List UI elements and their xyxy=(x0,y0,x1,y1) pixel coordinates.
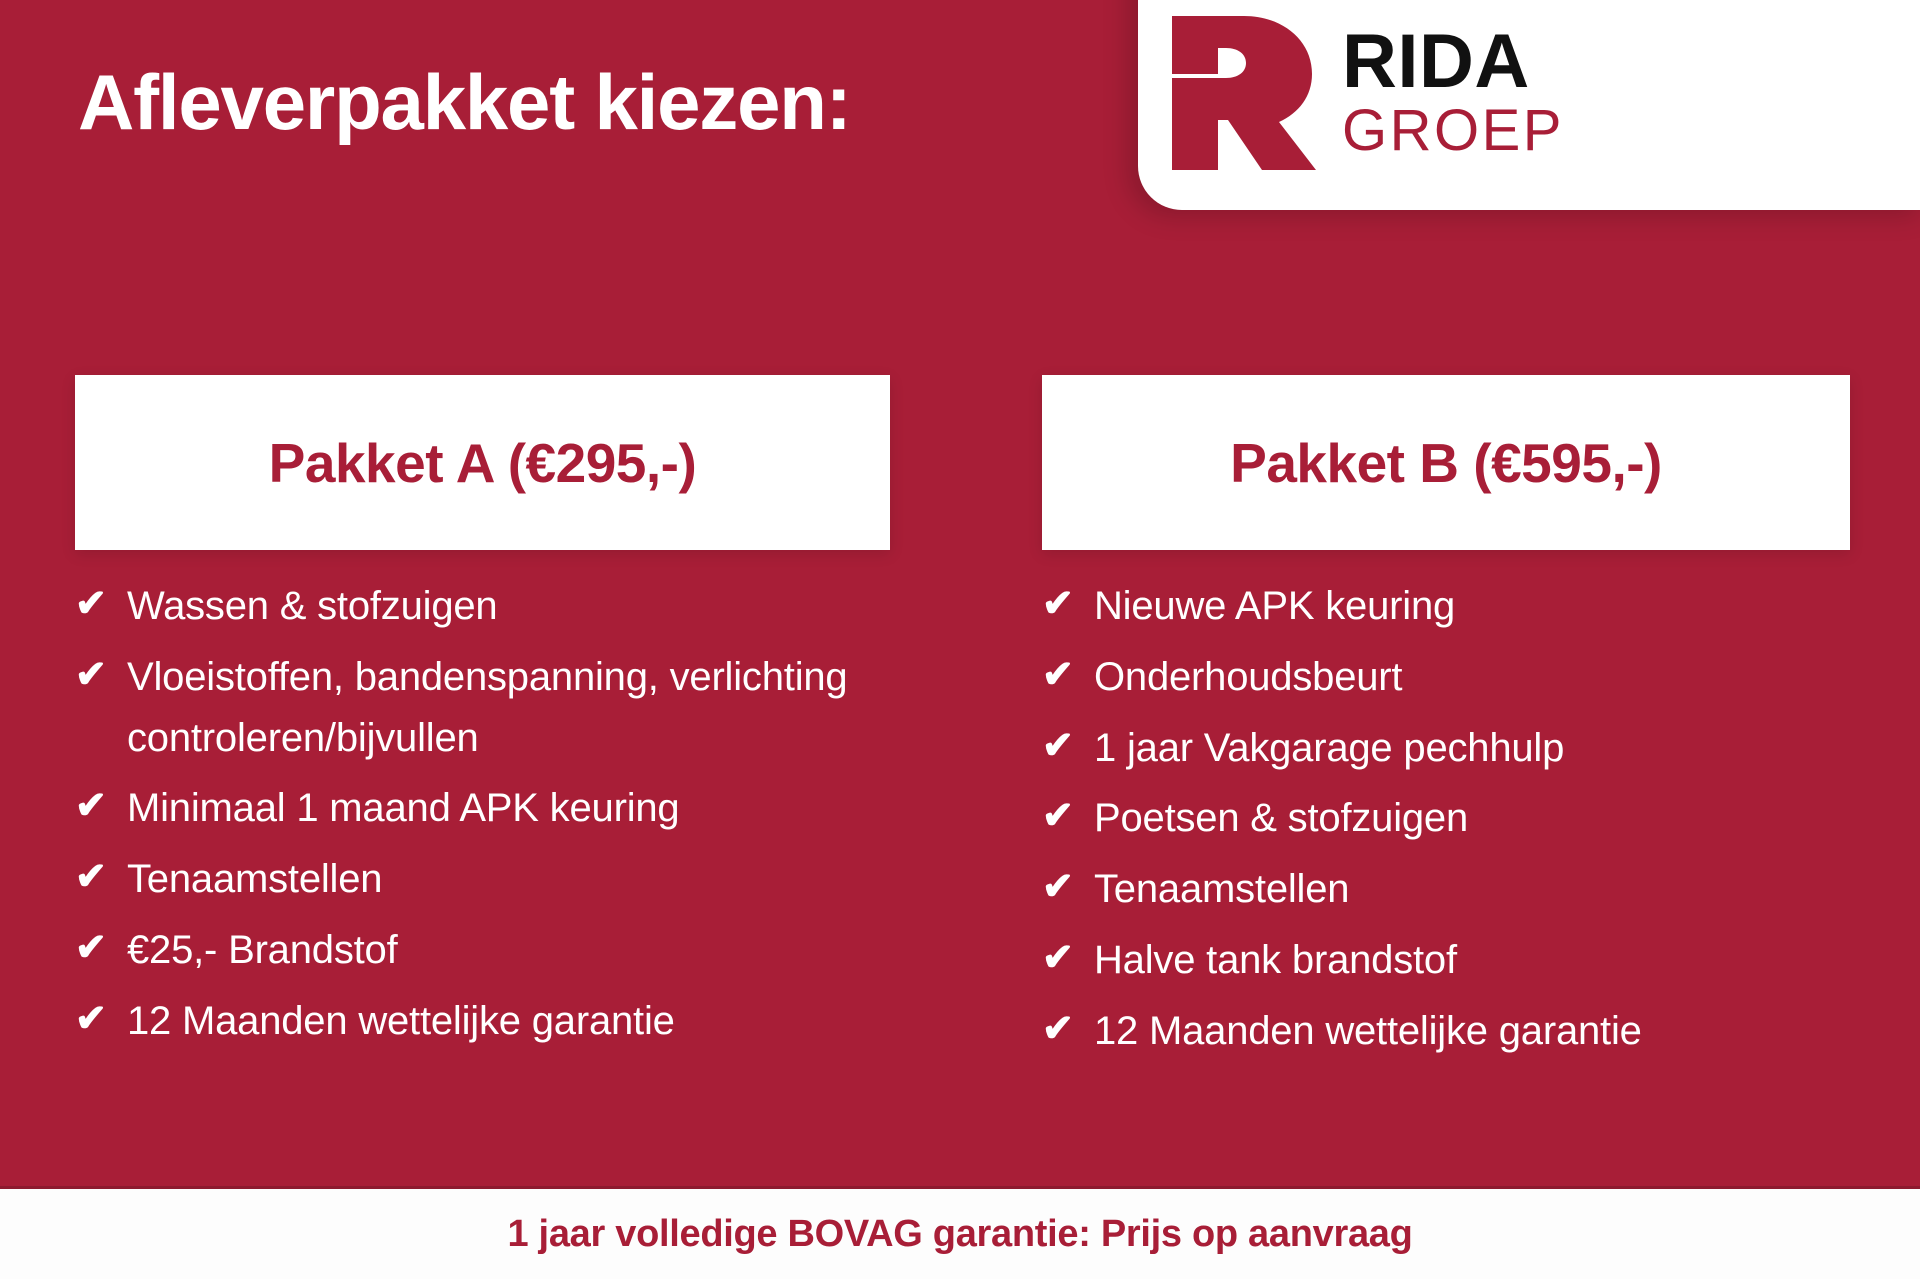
poster-header: Afleverpakket kiezen: RIDA GROEP xyxy=(0,0,1920,240)
check-icon: ✔ xyxy=(1042,930,1094,988)
check-icon: ✔ xyxy=(75,920,127,978)
feature-label: 1 jaar Vakgarage pechhulp xyxy=(1094,718,1850,779)
feature-label: Tenaamstellen xyxy=(1094,859,1850,920)
feature-label: Minimaal 1 maand APK keuring xyxy=(127,778,890,839)
footer-bar: 1 jaar volledige BOVAG garantie: Prijs o… xyxy=(0,1186,1920,1279)
package-b-feature-list: ✔ Nieuwe APK keuring ✔ Onderhoudsbeurt ✔… xyxy=(1042,550,1850,1062)
package-b-header: Pakket B (€595,-) xyxy=(1042,375,1850,550)
list-item: ✔ Tenaamstellen xyxy=(75,849,890,910)
list-item: ✔ Minimaal 1 maand APK keuring xyxy=(75,778,890,839)
list-item: ✔ Poetsen & stofzuigen xyxy=(1042,788,1850,849)
package-a-feature-list: ✔ Wassen & stofzuigen ✔ Vloeistoffen, ba… xyxy=(75,550,890,1052)
feature-label: Tenaamstellen xyxy=(127,849,890,910)
check-icon: ✔ xyxy=(1042,1001,1094,1059)
footer-guarantee-text: 1 jaar volledige BOVAG garantie: Prijs o… xyxy=(507,1213,1412,1256)
feature-label: 12 Maanden wettelijke garantie xyxy=(127,991,890,1052)
list-item: ✔ 12 Maanden wettelijke garantie xyxy=(1042,1001,1850,1062)
feature-label: Nieuwe APK keuring xyxy=(1094,576,1850,637)
list-item: ✔ €25,- Brandstof xyxy=(75,920,890,981)
check-icon: ✔ xyxy=(1042,718,1094,776)
feature-label: Onderhoudsbeurt xyxy=(1094,647,1850,708)
check-icon: ✔ xyxy=(1042,859,1094,917)
page-title: Afleverpakket kiezen: xyxy=(78,62,851,144)
check-icon: ✔ xyxy=(75,849,127,907)
list-item: ✔ Vloeistoffen, bandenspanning, verlicht… xyxy=(75,647,890,769)
rida-r-monogram-icon xyxy=(1166,14,1316,170)
feature-label: 12 Maanden wettelijke garantie xyxy=(1094,1001,1850,1062)
package-card-b[interactable]: Pakket B (€595,-) ✔ Nieuwe APK keuring ✔… xyxy=(1042,375,1850,1072)
list-item: ✔ Onderhoudsbeurt xyxy=(1042,647,1850,708)
logo-panel: RIDA GROEP xyxy=(1138,0,1920,210)
check-icon: ✔ xyxy=(75,991,127,1049)
logo-primary-text: RIDA xyxy=(1342,24,1564,100)
logo-lockup: RIDA GROEP xyxy=(1166,14,1564,170)
package-a-title: Pakket A (€295,-) xyxy=(269,431,697,495)
check-icon: ✔ xyxy=(1042,788,1094,846)
list-item: ✔ Tenaamstellen xyxy=(1042,859,1850,920)
package-b-title: Pakket B (€595,-) xyxy=(1230,431,1662,495)
package-card-a[interactable]: Pakket A (€295,-) ✔ Wassen & stofzuigen … xyxy=(75,375,890,1062)
check-icon: ✔ xyxy=(1042,576,1094,634)
feature-label: Wassen & stofzuigen xyxy=(127,576,890,637)
list-item: ✔ Nieuwe APK keuring xyxy=(1042,576,1850,637)
check-icon: ✔ xyxy=(75,647,127,705)
list-item: ✔ 1 jaar Vakgarage pechhulp xyxy=(1042,718,1850,779)
check-icon: ✔ xyxy=(1042,647,1094,705)
feature-label: Vloeistoffen, bandenspanning, verlichtin… xyxy=(127,647,890,769)
check-icon: ✔ xyxy=(75,778,127,836)
afleverpakket-poster: Afleverpakket kiezen: RIDA GROEP Pakket … xyxy=(0,0,1920,1279)
feature-label: Poetsen & stofzuigen xyxy=(1094,788,1850,849)
list-item: ✔ 12 Maanden wettelijke garantie xyxy=(75,991,890,1052)
package-a-header: Pakket A (€295,-) xyxy=(75,375,890,550)
check-icon: ✔ xyxy=(75,576,127,634)
list-item: ✔ Halve tank brandstof xyxy=(1042,930,1850,991)
logo-wordmark: RIDA GROEP xyxy=(1342,24,1564,160)
feature-label: Halve tank brandstof xyxy=(1094,930,1850,991)
feature-label: €25,- Brandstof xyxy=(127,920,890,981)
list-item: ✔ Wassen & stofzuigen xyxy=(75,576,890,637)
logo-secondary-text: GROEP xyxy=(1342,102,1564,160)
